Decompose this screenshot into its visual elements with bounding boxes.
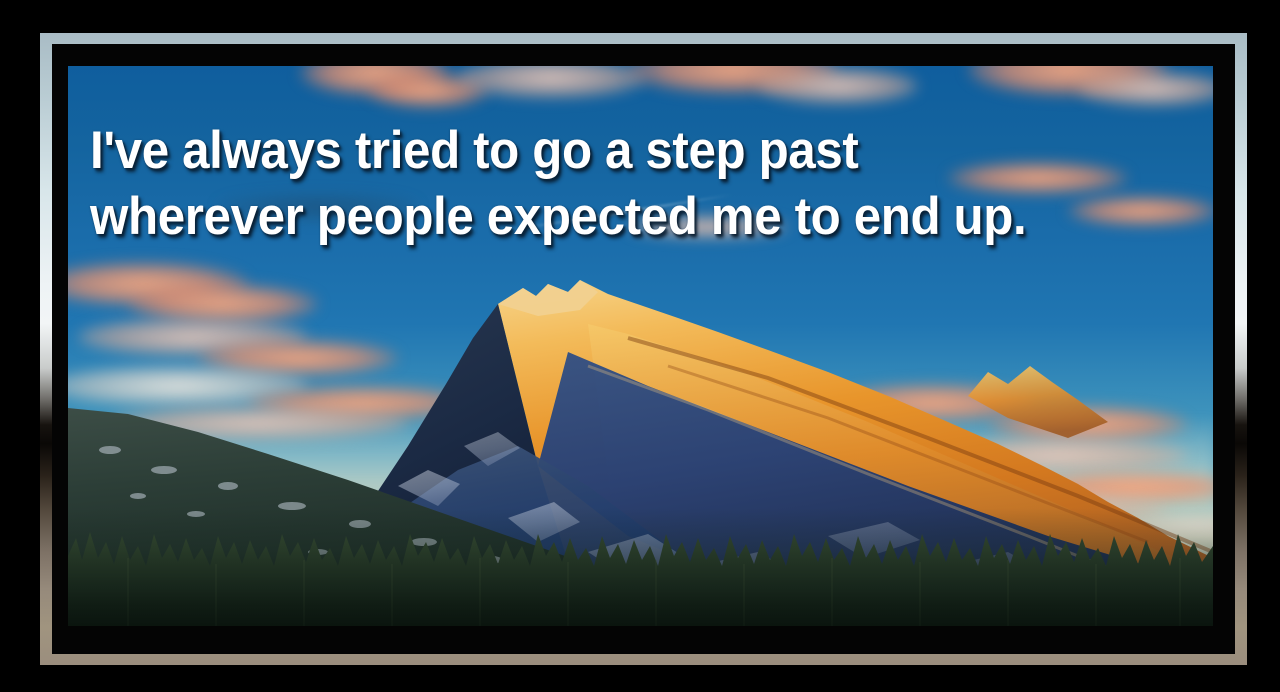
- mountain-sunset-photograph: I've always tried to go a step past wher…: [68, 66, 1213, 626]
- quote-text-block: I've always tried to go a step past wher…: [90, 118, 1200, 250]
- quote-line-2: wherever people expected me to end up.: [90, 184, 1122, 250]
- conifer-canopy: [68, 532, 1213, 626]
- picture-frame-border: I've always tried to go a step past wher…: [40, 33, 1247, 665]
- sub-peak-right: [968, 366, 1108, 438]
- quote-line-1: I've always tried to go a step past: [90, 118, 1122, 184]
- photo-mat: I've always tried to go a step past wher…: [52, 44, 1235, 654]
- image-canvas: I've always tried to go a step past wher…: [0, 0, 1280, 692]
- foreground-treeline: [68, 516, 1213, 626]
- treeline-silhouette: [68, 516, 1213, 626]
